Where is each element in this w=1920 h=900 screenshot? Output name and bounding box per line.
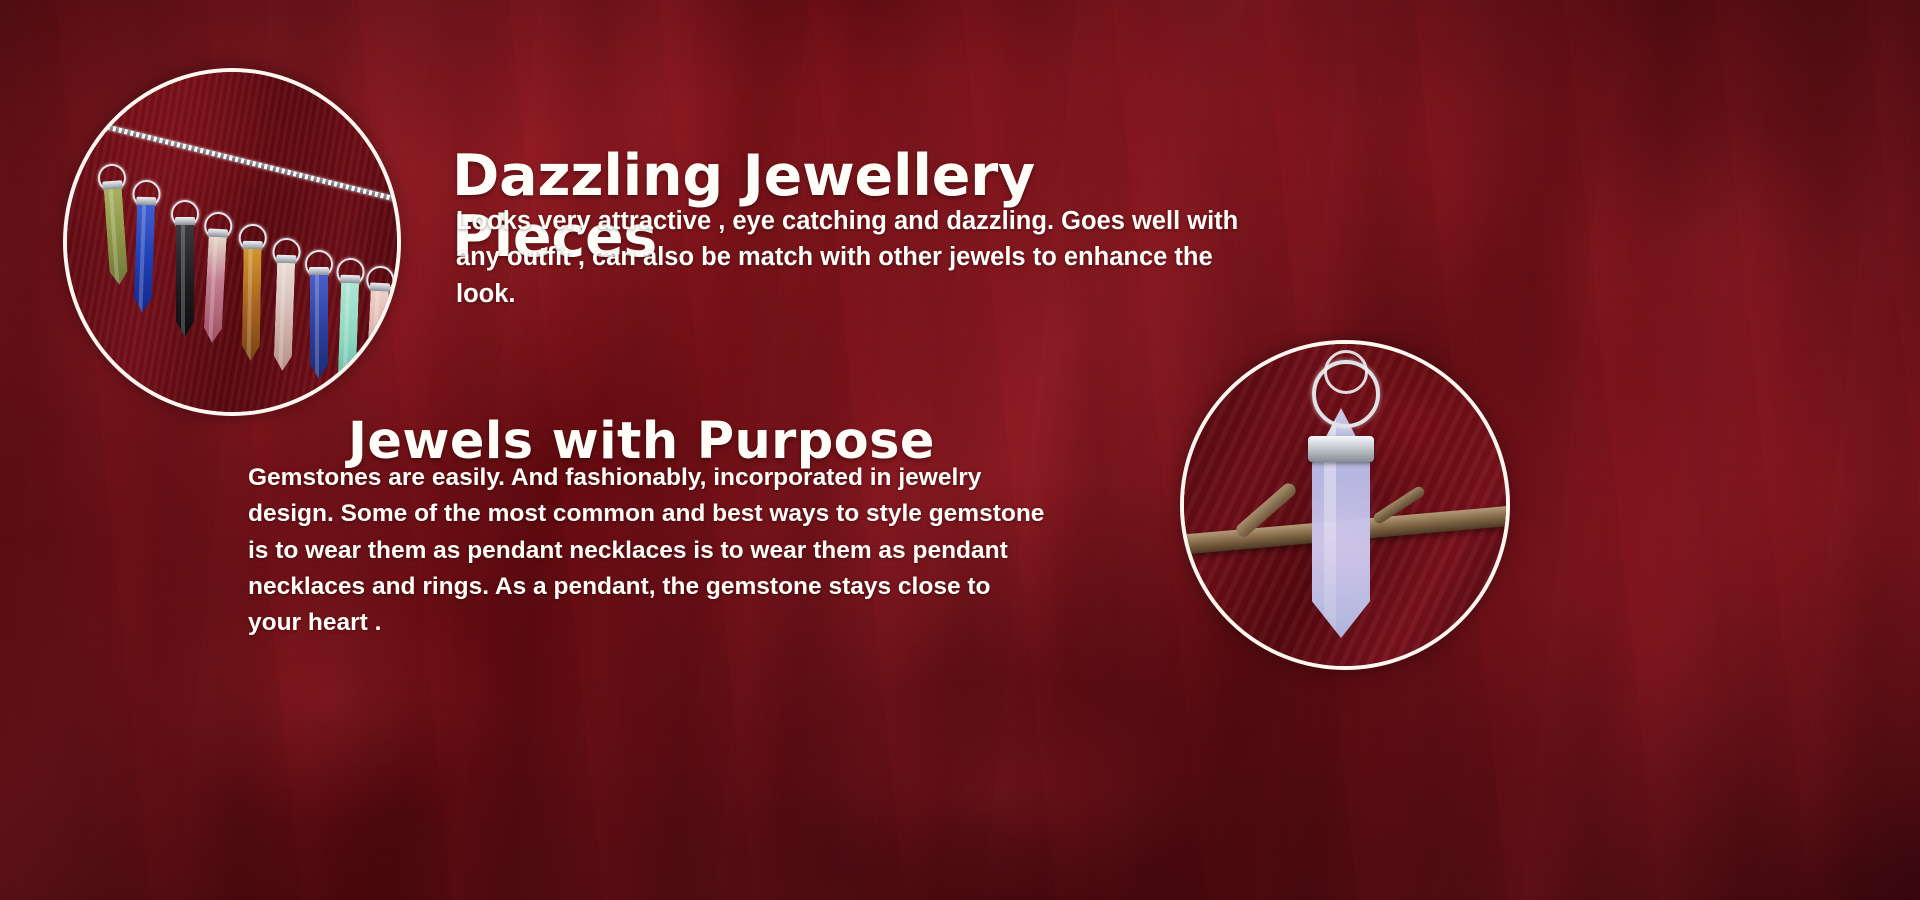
paragraph-dazzling-jewellery: Looks very attractive , eye catching and… bbox=[456, 203, 1306, 312]
gemstone-necklace-image bbox=[63, 68, 401, 416]
opalite-cap bbox=[1308, 436, 1374, 462]
pendant-stone bbox=[273, 263, 295, 372]
pendant-stone bbox=[310, 275, 328, 379]
left-photo-content bbox=[67, 72, 397, 412]
right-photo-content bbox=[1184, 344, 1506, 666]
paragraph-line: your heart . bbox=[248, 605, 1148, 641]
opalite-pendant-image bbox=[1180, 340, 1510, 670]
paragraph-line: necklaces and rings. As a pendant, the g… bbox=[248, 569, 1148, 605]
pendant-stone bbox=[242, 249, 262, 361]
paragraph-jewels-with-purpose: Gemstones are easily. And fashionably, i… bbox=[248, 460, 1148, 641]
pendant-cap bbox=[175, 217, 195, 226]
paragraph-line: Gemstones are easily. And fashionably, i… bbox=[248, 460, 1148, 496]
paragraph-line: is to wear them as pendant necklaces is … bbox=[248, 533, 1148, 569]
paragraph-line: look. bbox=[456, 276, 1306, 312]
opalite-bail-ring-small bbox=[1324, 350, 1368, 394]
pendant-stone bbox=[176, 225, 194, 337]
pendant-stone bbox=[338, 283, 360, 388]
pendant-cap bbox=[243, 241, 263, 250]
paragraph-line: design. Some of the most common and best… bbox=[248, 496, 1148, 532]
pendant-cap bbox=[309, 267, 329, 276]
paragraph-line: any outfit , can also be match with othe… bbox=[456, 239, 1306, 275]
banner-canvas: Dazzling Jewellery Pieces Looks very att… bbox=[0, 0, 1920, 900]
pendant-stone bbox=[133, 205, 155, 314]
paragraph-line: Looks very attractive , eye catching and… bbox=[456, 203, 1306, 239]
